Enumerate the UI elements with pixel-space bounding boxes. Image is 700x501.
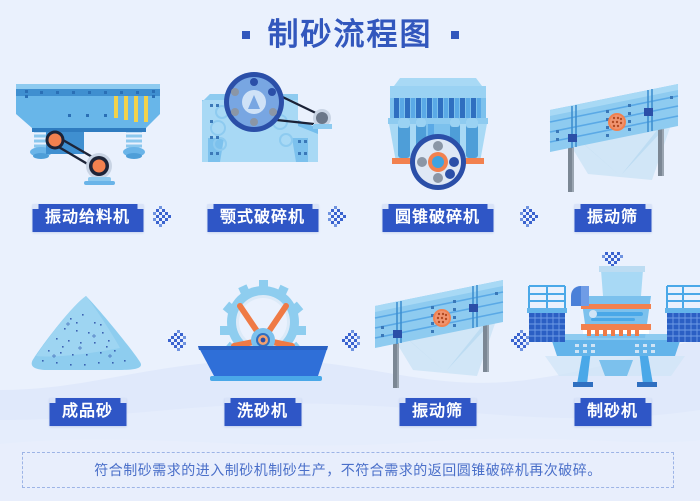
cone-crusher-illustration [350, 70, 525, 190]
arrow-right-icon-2 [328, 206, 354, 228]
step-label[interactable]: 制砂机 [574, 398, 651, 426]
vibrating-screen-illustration [350, 266, 525, 386]
step-label[interactable]: 振动筛 [399, 398, 476, 426]
vibrating-feeder-illustration [0, 70, 175, 190]
flow-step-vibrating-screen-2[interactable]: 振动筛 [350, 268, 525, 433]
arrow-left-icon-2 [334, 330, 360, 352]
arrow-right-icon-3 [520, 206, 546, 228]
finished-sand-pile-illustration [0, 274, 175, 394]
step-label[interactable]: 振动筛 [574, 204, 651, 232]
arrow-right-icon-1 [153, 206, 179, 228]
arrow-left-icon-3 [503, 330, 529, 352]
flow-step-jaw-crusher[interactable]: 颚式破碎机 [175, 70, 350, 240]
step-label[interactable]: 洗砂机 [224, 398, 301, 426]
arrow-left-icon-1 [160, 330, 186, 352]
footer-note-text: 符合制砂需求的进入制砂机制砂生产，不符合需求的返回圆锥破碎机再次破碎。 [94, 460, 602, 480]
flow-step-vibrating-screen-1[interactable]: 振动筛 [525, 70, 700, 240]
square-bullet-icon-left [242, 31, 250, 39]
step-label[interactable]: 成品砂 [49, 398, 126, 426]
square-bullet-icon-right [451, 31, 459, 39]
title-text: 制砂流程图 [268, 15, 433, 55]
process-diagram: 制砂流程图 [0, 0, 700, 501]
jaw-crusher-illustration [175, 70, 350, 190]
flow-step-sand-making-machine[interactable]: 制砂机 [525, 268, 700, 433]
flow-step-sand-washer[interactable]: 洗砂机 [175, 268, 350, 433]
sand-making-machine-illustration [525, 264, 700, 384]
page-title: 制砂流程图 [0, 12, 700, 58]
step-label[interactable]: 振动给料机 [32, 204, 143, 232]
flow-step-vibrating-feeder[interactable]: 振动给料机 [0, 70, 175, 240]
vibrating-screen-illustration [525, 70, 700, 190]
flow-step-finished-sand[interactable]: 成品砂 [0, 268, 175, 433]
footer-note: 符合制砂需求的进入制砂机制砂生产，不符合需求的返回圆锥破碎机再次破碎。 [22, 452, 674, 488]
sand-washer-illustration [175, 268, 350, 388]
step-label[interactable]: 圆锥破碎机 [382, 204, 493, 232]
step-label[interactable]: 颚式破碎机 [207, 204, 318, 232]
flow-step-cone-crusher[interactable]: 圆锥破碎机 [350, 70, 525, 240]
